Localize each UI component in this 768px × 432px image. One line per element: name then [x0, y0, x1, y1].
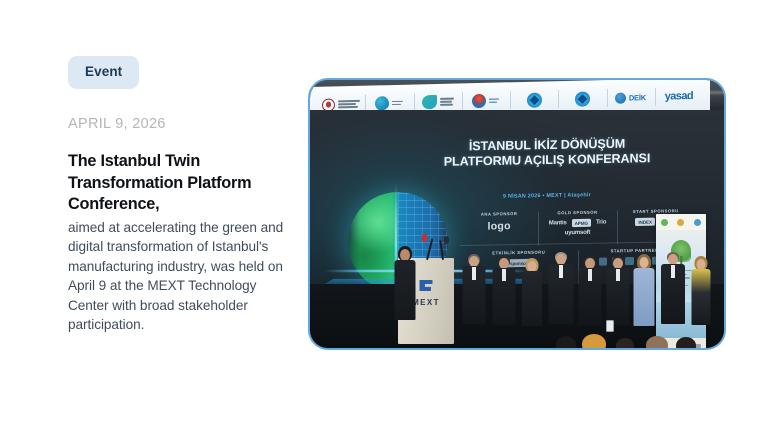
sponsor-logo: INDEX [635, 218, 655, 226]
audience-head [646, 336, 668, 348]
deik-globe-icon [615, 92, 626, 103]
sponsor-logo-list: logo [465, 220, 533, 233]
event-photo[interactable]: DEİK yasad İSTANBUL İKİZ DÖNÜŞÜM PLATFOR… [308, 78, 726, 350]
teknopark-logo-cell-2 [558, 85, 606, 112]
stage-wall-date: 9 NİSAN 2026 • MEXT | Ataşehir [422, 191, 672, 201]
ministry-logo-text [338, 100, 360, 109]
rollup-logo-icon [677, 219, 684, 226]
rollup-logo-icon [694, 219, 701, 226]
article-text-column: Event APRIL 9, 2026 The Istanbul Twin Tr… [68, 56, 296, 335]
audience-foreground [310, 314, 724, 348]
sponsor-group-ana: ANA SPONSOR logo [460, 211, 538, 238]
sponsor-logo: Trio [596, 219, 606, 225]
audience-head [556, 336, 576, 348]
category-badge-event[interactable]: Event [68, 56, 139, 89]
deik-logo-label: DEİK [629, 93, 646, 102]
sponsor-heading: GOLD SPONSOR [543, 209, 611, 215]
kosgeb-logo-text [392, 100, 403, 105]
iso-logo-text [489, 98, 499, 103]
page-root: Event APRIL 9, 2026 The Istanbul Twin Tr… [0, 0, 768, 432]
article-body-text: aimed at accelerating the green and digi… [68, 220, 283, 332]
audience-phone [606, 320, 614, 332]
sponsor-logo: APMG [572, 219, 591, 227]
microphone-head [444, 236, 449, 244]
yesil-donusum-logo-text [440, 97, 454, 106]
podium-brand-label: MEXT [412, 298, 440, 307]
audience-head [616, 338, 634, 348]
istanbul-sanayi-odasi-logo-icon [472, 94, 486, 108]
event-photo-inner: DEİK yasad İSTANBUL İKİZ DÖNÜŞÜM PLATFOR… [310, 80, 724, 348]
microphone-head [422, 234, 427, 242]
publish-date: APRIL 9, 2026 [68, 117, 296, 133]
yesil-donusum-logo-icon [422, 95, 437, 109]
sponsor-logo: Mantis [549, 220, 567, 226]
teknopark-logo-1-icon [527, 92, 542, 107]
audience-head [582, 334, 606, 348]
mext-logo-icon [420, 280, 433, 291]
deik-logo-cell: DEİK [607, 84, 655, 111]
teknopark-logo-2-icon [575, 91, 590, 106]
sponsor-logo: uyumsoft [565, 230, 590, 236]
sponsor-group-gold: GOLD SPONSOR Mantis APMG Trio uyumsoft [538, 209, 616, 236]
deik-logo-icon: DEİK [615, 92, 646, 104]
audience-head [676, 337, 696, 348]
stage-wall-title: İSTANBUL İKİZ DÖNÜŞÜM PLATFORMU AÇILIŞ K… [422, 136, 672, 171]
stage-wall-title-line2: PLATFORMU AÇILIŞ KONFERANSI [422, 151, 672, 171]
rollup-logo-icon [661, 219, 668, 226]
yasad-logo-label: yasad [665, 90, 693, 103]
rollup-top-logos [656, 214, 706, 230]
article-summary: The Istanbul Twin Transformation Platfor… [68, 151, 296, 334]
led-stage-wall: İSTANBUL İKİZ DÖNÜŞÜM PLATFORMU AÇILIŞ K… [310, 110, 724, 348]
article-headline[interactable]: The Istanbul Twin Transformation Platfor… [68, 151, 296, 215]
yasad-logo-cell: yasad [655, 83, 703, 110]
sponsor-logo-list: Mantis APMG Trio uyumsoft [543, 218, 611, 236]
sponsor-heading: ANA SPONSOR [465, 211, 533, 217]
sponsor-logo: logo [487, 220, 510, 232]
kosgeb-logo-icon [375, 96, 389, 110]
